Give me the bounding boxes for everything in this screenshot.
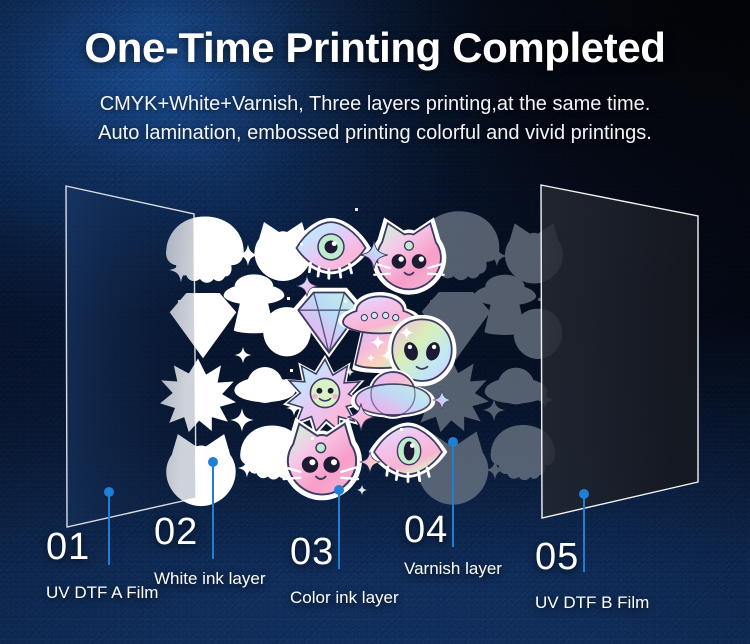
callout-stem: [212, 462, 214, 559]
subtitle-line-1: CMYK+White+Varnish, Three layers printin…: [0, 90, 750, 119]
subtitle-line-2: Auto lamination, embossed printing color…: [0, 119, 750, 148]
callout-stem: [108, 492, 110, 565]
callout-stem: [338, 490, 340, 569]
callout-caption: UV DTF A Film: [46, 584, 158, 601]
callout-stem: [452, 442, 454, 547]
callout-number: 02: [154, 513, 198, 551]
promo-banner: One-Time Printing Completed CMYK+White+V…: [0, 0, 750, 644]
callout-caption: Varnish layer: [404, 560, 502, 577]
callout-caption: UV DTF B Film: [535, 594, 649, 611]
callout-caption: Color ink layer: [290, 589, 399, 606]
callout-stem: [583, 494, 585, 572]
callout-number: 03: [290, 533, 334, 571]
callout-number: 01: [46, 528, 90, 566]
color-ink-layer: [282, 208, 456, 500]
cat-face-sticker-lower: [282, 417, 362, 500]
callout-caption: White ink layer: [154, 570, 265, 587]
page-title: One-Time Printing Completed: [0, 26, 750, 70]
callout-number: 05: [535, 538, 579, 576]
callout-number: 04: [404, 511, 448, 549]
subtitle-block: CMYK+White+Varnish, Three layers printin…: [0, 90, 750, 148]
